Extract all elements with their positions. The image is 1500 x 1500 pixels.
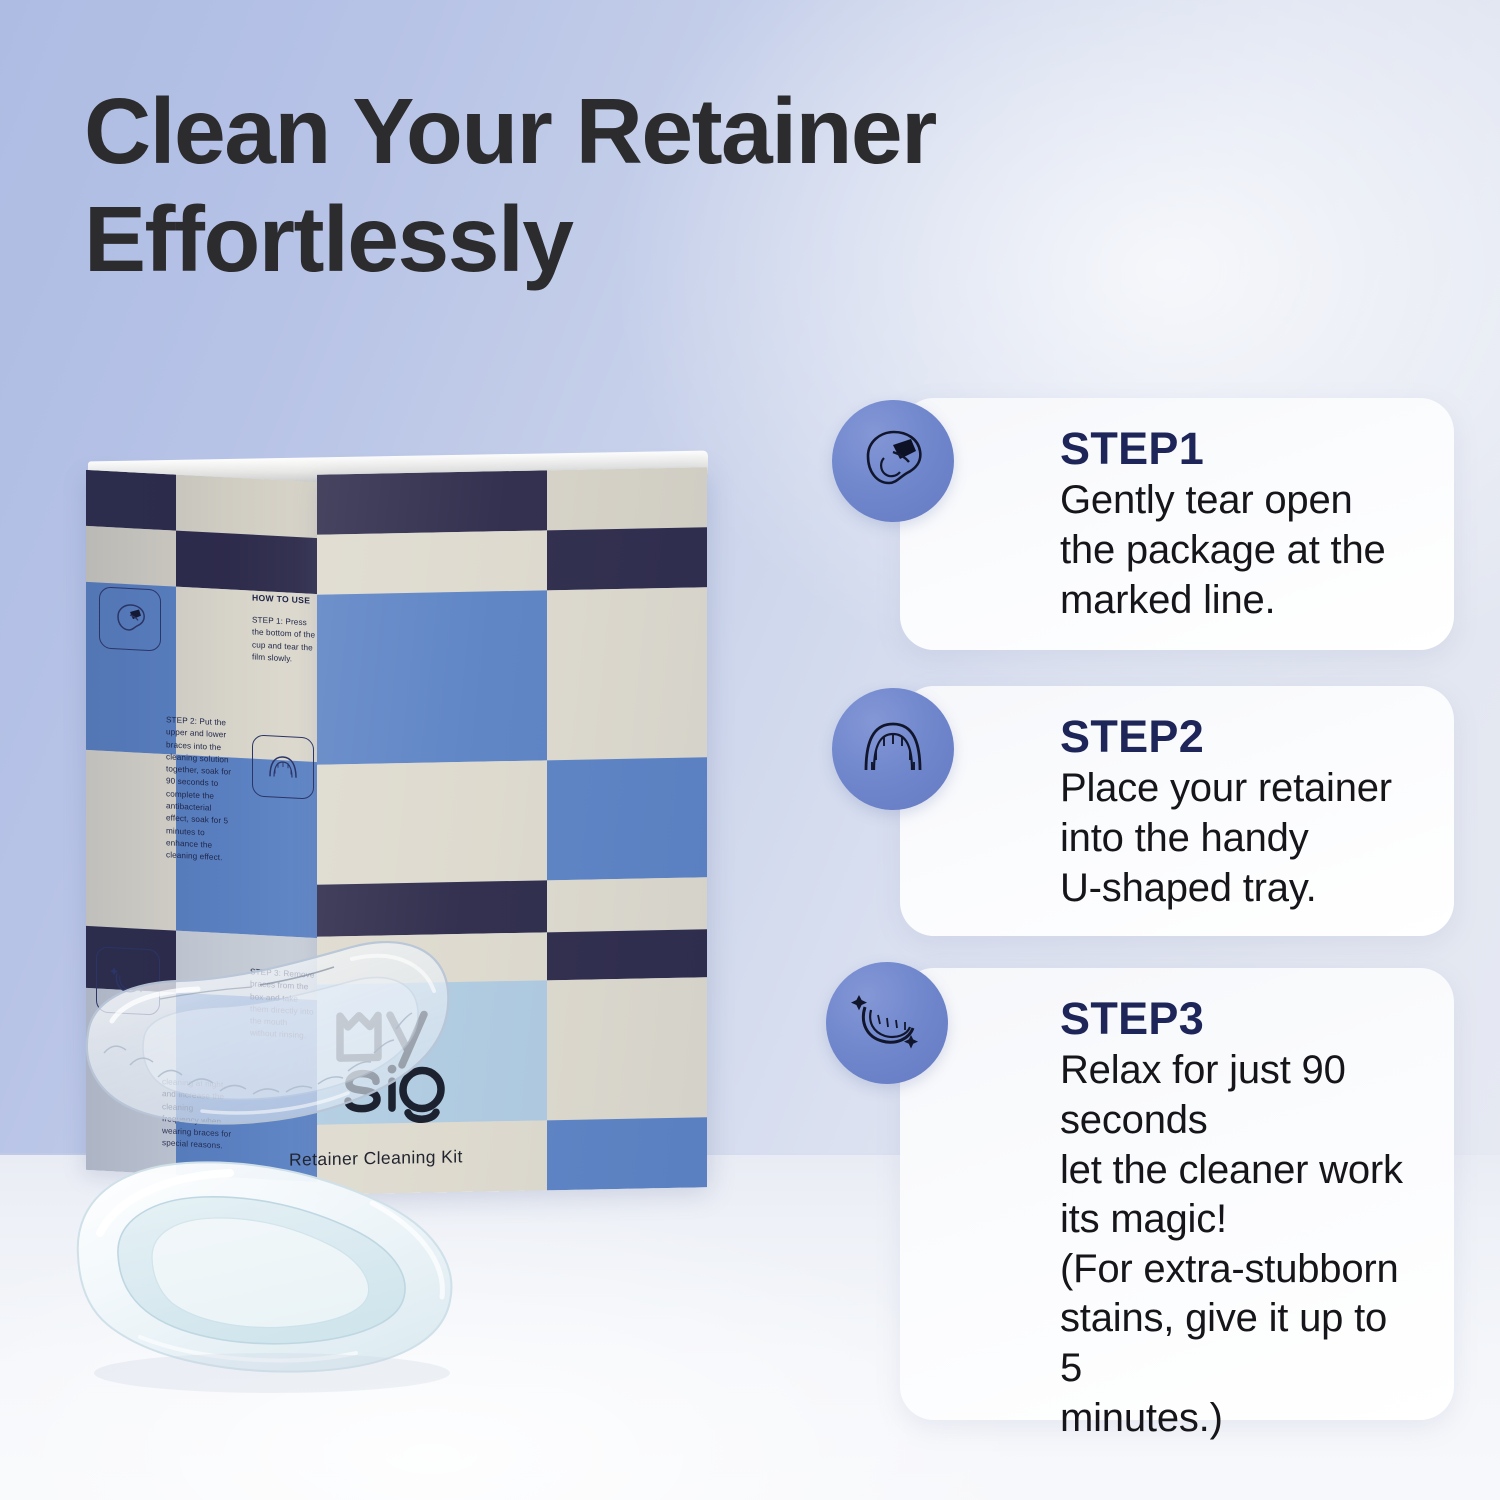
box-swatch	[547, 877, 707, 932]
headline-line-2: Effortlessly	[84, 186, 1264, 294]
box-swatch	[317, 760, 547, 884]
step-2-text: Place your retainer into the handy U-sha…	[1060, 764, 1420, 913]
box-swatch	[547, 929, 707, 980]
poster-canvas: Clean Your Retainer Effortlessly	[0, 0, 1500, 1500]
box-swatch	[317, 590, 547, 764]
product-tagline: Retainer Cleaning Kit	[289, 1146, 463, 1170]
step-card-3[interactable]: STEP3 Relax for just 90 seconds let the …	[900, 968, 1454, 1420]
box-icon-sparkle-tray	[96, 946, 160, 1015]
step-3-label: STEP3	[1060, 994, 1420, 1044]
product-package: HOW TO USE STEP 1: Press the bottom of t…	[74, 448, 714, 1208]
step-1-text: Gently tear open the package at the mark…	[1060, 476, 1420, 625]
box-swatch	[317, 880, 547, 936]
box-swatch	[547, 467, 707, 530]
box-icon-tear-package	[99, 586, 161, 651]
box-swatch	[86, 470, 176, 531]
step-3-text: Relax for just 90 seconds let the cleane…	[1060, 1046, 1420, 1443]
torn-package-icon	[850, 416, 936, 507]
box-swatch	[547, 1117, 707, 1190]
box-swatch	[317, 470, 547, 534]
box-swatch	[547, 977, 707, 1120]
step-3-badge	[826, 962, 948, 1084]
step-card-1[interactable]: STEP1 Gently tear open the package at th…	[900, 398, 1454, 650]
box-swatch	[547, 757, 707, 880]
step-1-badge	[832, 400, 954, 522]
step-2-badge	[832, 688, 954, 810]
headline-line-1: Clean Your Retainer	[84, 78, 1264, 186]
step-card-2[interactable]: STEP2 Place your retainer into the handy…	[900, 686, 1454, 936]
sparkling-retainer-icon	[843, 977, 931, 1070]
box-swatch	[176, 475, 318, 539]
u-shaped-tray-icon	[850, 704, 936, 795]
step-2-label: STEP2	[1060, 712, 1420, 762]
box-swatch	[547, 587, 707, 760]
floor-highlight	[0, 1200, 1050, 1500]
page-title: Clean Your Retainer Effortlessly	[84, 78, 1264, 294]
box-swatch	[547, 527, 707, 590]
box-swatch	[317, 530, 547, 594]
box-panel-step3: STEP 3: Remove braces from the box and t…	[250, 966, 316, 1043]
box-panel-step4: cleaning at night, and increase the clea…	[162, 1076, 232, 1153]
box-icon-u-tray	[252, 734, 314, 799]
brand-logo	[332, 992, 462, 1149]
box-panel-step2: STEP 2: Put the upper and lower braces i…	[166, 714, 232, 865]
step-1-label: STEP1	[1060, 424, 1420, 474]
box-swatch	[86, 526, 176, 587]
box-swatch	[317, 932, 547, 984]
box-swatch	[176, 531, 318, 595]
box-panel-step1: STEP 1: Press the bottom of the cup and …	[252, 614, 316, 667]
box-swatch	[86, 750, 176, 931]
